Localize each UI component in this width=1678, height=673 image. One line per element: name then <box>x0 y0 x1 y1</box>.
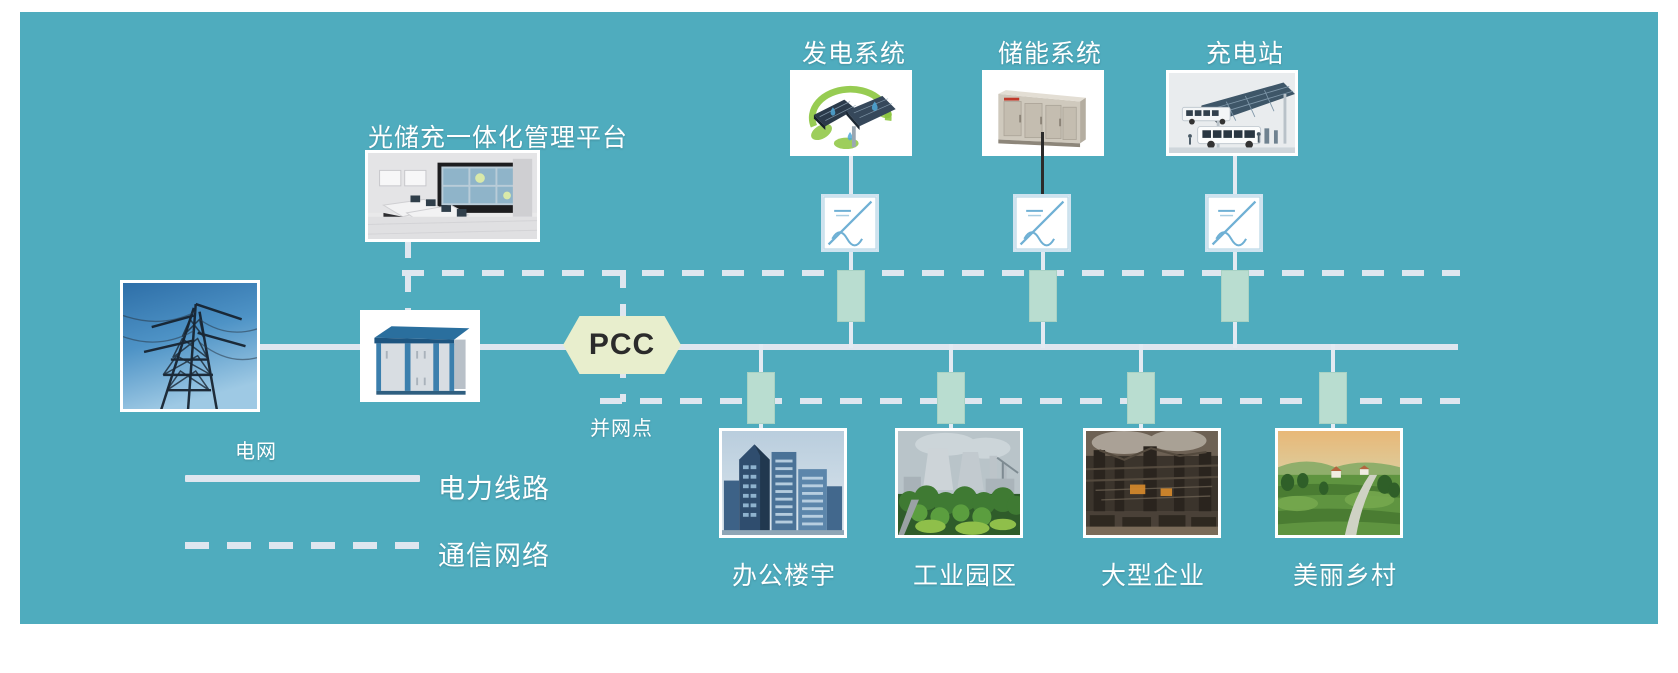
comm-node-top-2 <box>1221 270 1249 322</box>
inverter-2 <box>1205 194 1263 252</box>
rural-village-illustration <box>1278 431 1400 535</box>
comm-node-bottom-1 <box>937 372 965 424</box>
power-line-top-1-photo <box>1041 132 1044 196</box>
transmission-tower-photo <box>120 280 260 412</box>
inverter-1 <box>1013 194 1071 252</box>
legend-label-comm-network: 通信网络 <box>438 534 550 573</box>
top-node-label-0: 发电系统 <box>802 34 906 70</box>
comm-node-top-1 <box>1029 270 1057 322</box>
bottom-node-label-2: 大型企业 <box>1101 556 1205 592</box>
inverter-icon <box>823 196 877 250</box>
comm-bus-upper <box>402 270 1460 276</box>
power-line-top-0-photo <box>849 156 853 196</box>
platform-title: 光储充一体化管理平台 <box>368 118 628 154</box>
comm-node-bottom-3 <box>1319 372 1347 424</box>
diagram-root: PCC 并网点 光储充一体化管理平台 <box>0 0 1678 673</box>
charging-station-illustration <box>1169 73 1295 153</box>
large-enterprise-illustration <box>1086 431 1218 535</box>
industrial-park-illustration <box>898 431 1020 535</box>
power-line-top-2-photo <box>1233 156 1237 196</box>
solar-panel-photo <box>790 70 912 156</box>
large-enterprise-photo <box>1083 428 1221 538</box>
tower-illustration <box>123 283 257 409</box>
pcc-label: PCC <box>589 328 655 362</box>
bottom-node-label-1: 工业园区 <box>913 556 1017 592</box>
grid-label: 电网 <box>235 435 277 464</box>
diagram-canvas: PCC 并网点 光储充一体化管理平台 <box>20 12 1658 624</box>
inverter-0 <box>821 194 879 252</box>
substation-illustration <box>363 313 477 399</box>
office-buildings-illustration <box>722 431 844 535</box>
pcc-node: PCC <box>563 316 681 374</box>
legend-swatch-power-line <box>185 475 420 482</box>
comm-node-top-0 <box>837 270 865 322</box>
management-platform-photo <box>365 150 540 242</box>
substation-photo <box>360 310 480 402</box>
bottom-node-label-0: 办公楼宇 <box>732 556 836 592</box>
charging-station-photo <box>1166 70 1298 156</box>
industrial-park-photo <box>895 428 1023 538</box>
bottom-node-label-3: 美丽乡村 <box>1293 556 1397 592</box>
top-node-label-1: 储能系统 <box>998 34 1102 70</box>
comm-node-bottom-2 <box>1127 372 1155 424</box>
pcc-sub-label: 并网点 <box>590 412 653 441</box>
rural-village-photo <box>1275 428 1403 538</box>
legend-swatch-comm-network <box>185 542 420 549</box>
comm-node-bottom-0 <box>747 372 775 424</box>
office-buildings-photo <box>719 428 847 538</box>
legend-label-power-line: 电力线路 <box>438 467 550 506</box>
top-node-label-2: 充电站 <box>1206 34 1284 70</box>
solar-panel-illustration <box>793 73 909 153</box>
inverter-icon <box>1207 196 1261 250</box>
control-room-illustration <box>368 153 537 239</box>
inverter-icon <box>1015 196 1069 250</box>
comm-link-platform <box>405 240 411 274</box>
